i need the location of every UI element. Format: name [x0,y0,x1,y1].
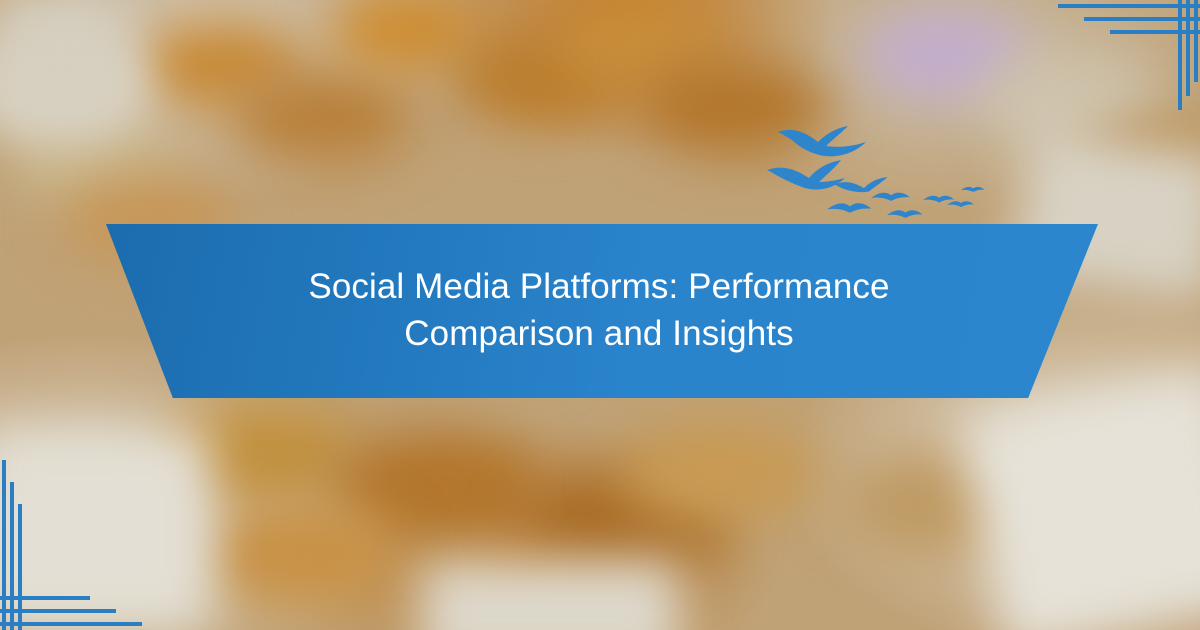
corner-line-vertical [1194,0,1198,82]
corner-line-vertical [1178,0,1182,110]
corner-line-vertical [1186,0,1190,96]
corner-line-horizontal [0,622,142,626]
coin-shape [330,0,480,70]
corner-line-vertical [2,460,6,630]
coin-shape [620,420,820,525]
coin-shape [230,70,415,165]
corner-line-horizontal [0,596,90,600]
title-banner: Social Media Platforms: Performance Comp… [100,224,1098,398]
bird-flock-icon [765,122,1000,227]
corner-grid-icon [1040,0,1200,120]
coin-shape [200,500,400,610]
banknote-shape [958,366,1200,630]
banknote-shape [420,560,680,630]
banknote-shape [0,0,120,120]
corner-line-horizontal [1084,17,1200,21]
corner-line-horizontal [0,609,116,613]
corner-line-vertical [10,482,14,630]
corner-grid-icon [0,440,160,630]
page-title: Social Media Platforms: Performance Comp… [234,264,964,357]
